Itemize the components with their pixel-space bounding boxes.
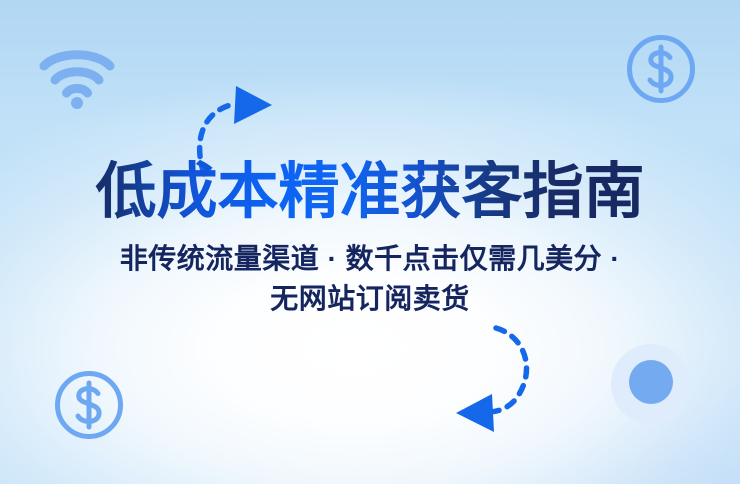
wifi-icon xyxy=(38,44,116,110)
banner-subtitle-line-1: 非传统流量渠道 · 数千点击仅需几美分 · xyxy=(0,239,740,279)
banner-subtitle: 非传统流量渠道 · 数千点击仅需几美分 · 无网站订阅卖货 xyxy=(0,239,740,319)
dollar-circle-icon xyxy=(52,368,126,442)
circle-dot-icon xyxy=(608,344,694,430)
banner-text-block: 低成本精准获客指南 非传统流量渠道 · 数千点击仅需几美分 · 无网站订阅卖货 xyxy=(0,160,740,319)
page-title: 低成本精准获客指南 xyxy=(0,160,740,223)
banner-subtitle-line-2: 无网站订阅卖货 xyxy=(0,279,740,319)
promo-banner: 低成本精准获客指南 非传统流量渠道 · 数千点击仅需几美分 · 无网站订阅卖货 xyxy=(0,0,740,484)
dollar-circle-icon xyxy=(624,32,698,106)
curved-arrow-left-icon xyxy=(448,322,578,432)
